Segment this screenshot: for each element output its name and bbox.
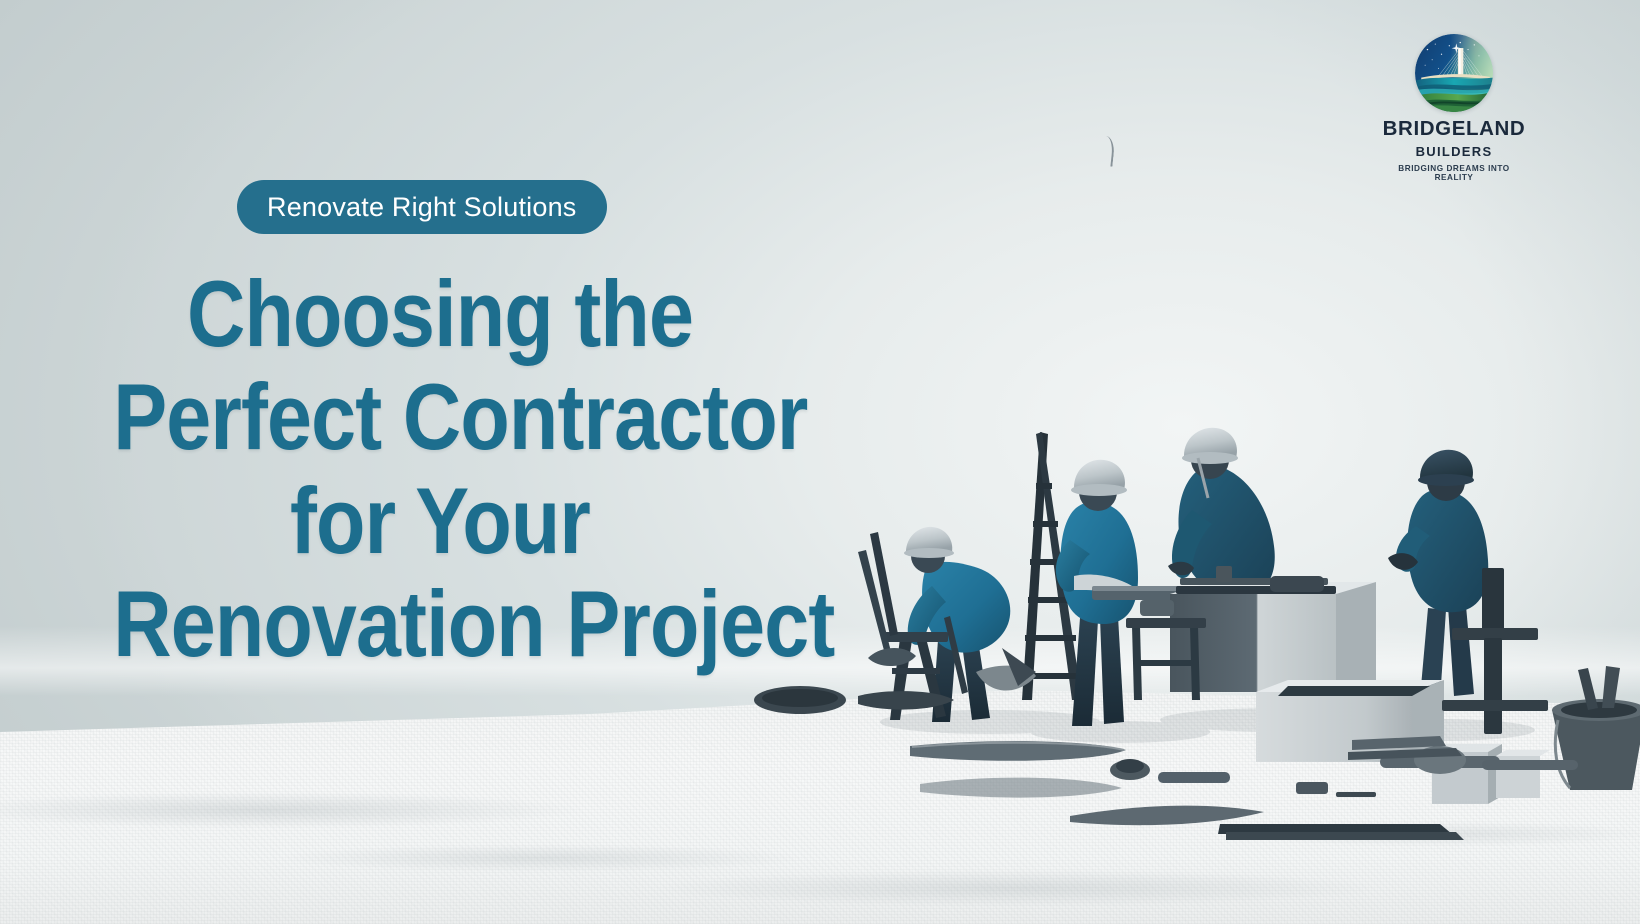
headline-line-2: Perfect Contractor [113, 365, 767, 468]
worker-4 [1388, 450, 1488, 700]
crate-right [1280, 636, 1370, 702]
banner-root: Renovate Right Solutions Choosing the Pe… [0, 0, 1640, 924]
bucket [1552, 666, 1640, 790]
page-title: Choosing the Perfect Contractor for Your… [60, 262, 820, 676]
brand-logo[interactable]: BRIDGELAND BUILDERS BRIDGING DREAMS INTO… [1378, 34, 1530, 182]
headline-line-3: for Your [113, 469, 767, 572]
badge-label: Renovate Right Solutions [267, 192, 577, 223]
logo-company-name: BRIDGELAND [1378, 118, 1530, 141]
logo-subtitle: BUILDERS [1378, 144, 1530, 159]
headline-line-1: Choosing the [113, 262, 767, 365]
badge-renovate-right-solutions[interactable]: Renovate Right Solutions [237, 180, 607, 234]
logo-tagline: BRIDGING DREAMS INTO REALITY [1378, 164, 1530, 182]
bridge-circle-icon [1415, 34, 1493, 112]
construction-scene [740, 400, 1640, 860]
headline-line-4: Renovation Project [113, 572, 767, 675]
